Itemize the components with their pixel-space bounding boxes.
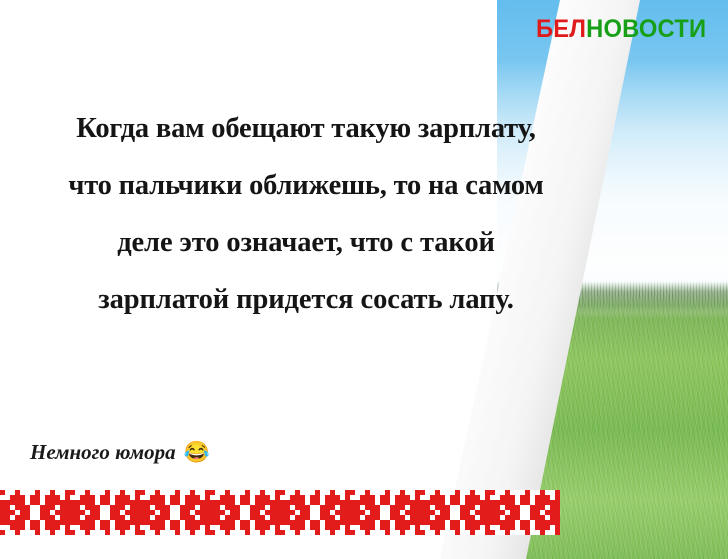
quote-text: Когда вам обещают такую зарплату, что па… xyxy=(0,100,612,328)
site-logo[interactable]: БЕЛНОВОСТИ xyxy=(536,17,706,42)
quote-line-1: Когда вам обещают такую зарплату, xyxy=(0,100,612,157)
belarusian-ornament: .o { fill: #e21b1b; } xyxy=(0,490,560,535)
quote-line-2: что пальчики оближешь, то на самом xyxy=(0,157,612,214)
caption: Немного юмора 😂 xyxy=(30,440,210,465)
quote-line-4: зарплатой придется сосать лапу. xyxy=(0,271,612,328)
quote-line-3: деле это означает, что с такой xyxy=(0,214,612,271)
image-canvas: БЕЛНОВОСТИ Когда вам обещают такую зарпл… xyxy=(0,0,728,559)
caption-label: Немного юмора xyxy=(30,440,176,465)
face-with-tears-of-joy-icon: 😂 xyxy=(184,442,210,463)
logo-text-bel: БЕЛ xyxy=(536,15,586,43)
logo-text-novosti: НОВОСТИ xyxy=(586,15,706,43)
